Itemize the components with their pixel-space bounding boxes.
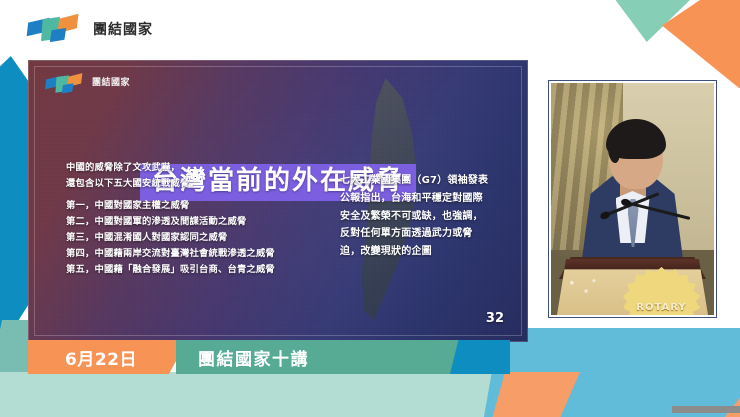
- threat-list-item-3: 第三，中國混淆國人對國家認同之威脅: [66, 230, 316, 246]
- brand-diamond-logo-icon: [28, 16, 84, 42]
- speaker-video-panel[interactable]: ROTARY: [549, 81, 716, 317]
- rotary-logo-text: ROTARY: [623, 302, 701, 313]
- lower-third-banner: 6月22日 團結國家十講: [0, 340, 740, 374]
- slide-right-column: 七大工業國集團（G7）領袖發表公報指出，台海和平穩定對國際安全及繁榮不可或缺，也…: [340, 172, 490, 261]
- screen-root: 團結國家 團結國家 台灣當前的外在威脅 中國的威脅除了文攻武嚇， 還包含以下五大…: [0, 0, 740, 417]
- slide-left-column: 中國的威脅除了文攻武嚇， 還包含以下五大國安統戰威脅： 第一，中國對國家主權之威…: [66, 160, 316, 278]
- lower-third-accent: [450, 340, 510, 374]
- threat-list: 第一，中國對國家主權之威脅 第二，中國對國軍的滲透及間諜活動之威脅 第三，中國混…: [66, 198, 316, 278]
- brand-name-label: 團結國家: [93, 19, 153, 39]
- lower-third-date: 6月22日: [28, 340, 188, 374]
- lower-third-title: 團結國家十講: [176, 340, 476, 374]
- threat-list-item-4: 第四，中國藉兩岸交流對臺灣社會統戰滲透之威脅: [66, 246, 316, 262]
- podium-speckles: [565, 275, 599, 301]
- threat-list-item-5: 第五，中國藉「融合發展」吸引台商、台青之威脅: [66, 262, 316, 278]
- threat-list-item-1: 第一，中國對國家主權之威脅: [66, 198, 316, 214]
- decor-pale-teal-band: [0, 372, 524, 417]
- slide-brand-diamond-logo-icon: [46, 75, 75, 89]
- presentation-slide[interactable]: 團結國家 台灣當前的外在威脅 中國的威脅除了文攻武嚇， 還包含以下五大國安統戰威…: [28, 60, 528, 342]
- brand-header: 團結國家: [28, 14, 153, 44]
- slide-brand-header: 團結國家: [46, 72, 130, 91]
- slide-page-number: 32: [486, 311, 504, 326]
- left-lead-line-1: 中國的威脅除了文攻武嚇，: [66, 160, 316, 176]
- decor-grey-strip: [672, 406, 740, 413]
- slide-brand-name-label: 團結國家: [92, 75, 130, 88]
- left-column-lead: 中國的威脅除了文攻武嚇， 還包含以下五大國安統戰威脅：: [66, 160, 316, 192]
- left-lead-line-2: 還包含以下五大國安統戰威脅：: [66, 176, 316, 192]
- threat-list-item-2: 第二，中國對國軍的滲透及間諜活動之威脅: [66, 214, 316, 230]
